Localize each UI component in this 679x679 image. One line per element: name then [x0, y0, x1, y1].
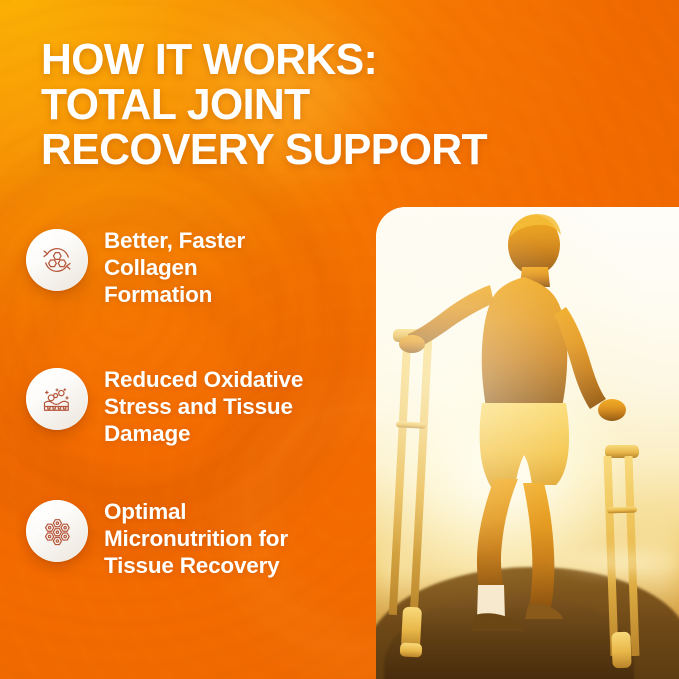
benefit-item-micronutrition: Optimal Micronutrition for Tissue Recove… — [26, 497, 288, 579]
benefit-item-oxidative-stress: Reduced Oxidative Stress and Tissue Dama… — [26, 365, 303, 447]
crutch-left — [389, 329, 432, 658]
benefit-item-collagen: Better, Faster Collagen Formation — [26, 226, 245, 308]
headline-line-3: RECOVERY SUPPORT — [41, 127, 545, 172]
benefit-1-line-1: Better, Faster — [104, 227, 245, 254]
collagen-cycle-icon — [26, 229, 88, 291]
tissue-oxidative-stress-icon — [26, 368, 88, 430]
crutch-right — [604, 445, 640, 668]
benefit-label-micronutrition: Optimal Micronutrition for Tissue Recove… — [104, 497, 288, 579]
hero-photo-card — [376, 207, 679, 679]
honeycomb-micronutrient-icon — [26, 500, 88, 562]
benefit-2-line-2: Stress and Tissue — [104, 393, 303, 420]
benefit-1-line-2: Collagen — [104, 254, 245, 281]
benefit-1-line-3: Formation — [104, 281, 245, 308]
man-silhouette — [399, 214, 626, 631]
page-title: HOW IT WORKS: TOTAL JOINT RECOVERY SUPPO… — [41, 37, 545, 172]
photo-figure-man-with-crutches — [376, 207, 679, 679]
infographic-poster: HOW IT WORKS: TOTAL JOINT RECOVERY SUPPO… — [0, 0, 679, 679]
benefit-3-line-3: Tissue Recovery — [104, 552, 288, 579]
benefit-2-line-3: Damage — [104, 420, 303, 447]
benefit-2-line-1: Reduced Oxidative — [104, 366, 303, 393]
benefit-3-line-1: Optimal — [104, 498, 288, 525]
headline-line-1: HOW IT WORKS: — [41, 37, 545, 82]
headline-line-2: TOTAL JOINT — [41, 82, 545, 127]
benefit-label-collagen: Better, Faster Collagen Formation — [104, 226, 245, 308]
benefit-3-line-2: Micronutrition for — [104, 525, 288, 552]
benefit-label-oxidative-stress: Reduced Oxidative Stress and Tissue Dama… — [104, 365, 303, 447]
